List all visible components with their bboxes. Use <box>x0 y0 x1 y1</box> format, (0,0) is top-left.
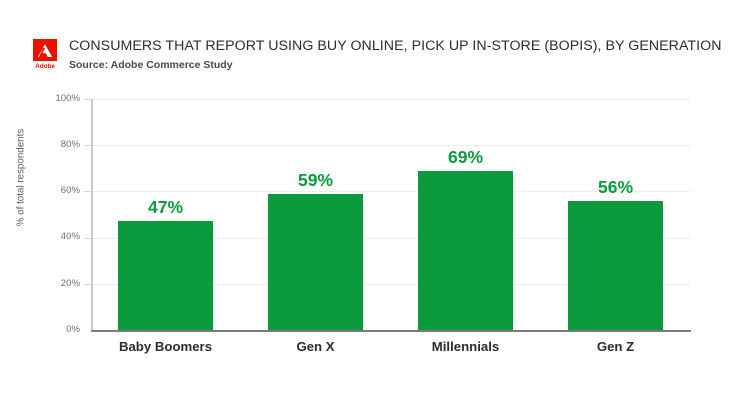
y-tick-label: 40% <box>36 232 80 242</box>
x-axis-label-millennials: Millennials <box>408 339 523 355</box>
bar-value-millennials: 69% <box>418 147 513 167</box>
y-tick-label: 80% <box>36 140 80 150</box>
bar-value-gen-z: 56% <box>568 177 663 197</box>
bar-value-gen-x: 59% <box>268 170 363 190</box>
y-tick-label: 60% <box>36 186 80 196</box>
bar-gen-z[interactable] <box>568 201 663 330</box>
y-axis-labels: 100% 80% 60% 40% 20% 0% <box>32 0 80 413</box>
x-axis-line <box>91 330 691 332</box>
bar-chart: 100% 80% 60% 40% 20% 0% % of total respo… <box>0 0 750 413</box>
x-axis-label-baby-boomers: Baby Boomers <box>108 339 223 355</box>
x-axis-label-gen-z: Gen Z <box>558 339 673 355</box>
bar-gen-x[interactable] <box>268 194 363 330</box>
y-axis-tick <box>84 238 91 239</box>
x-axis-label-gen-x: Gen X <box>258 339 373 355</box>
y-tick-label: 20% <box>36 279 80 289</box>
y-tick-label: 100% <box>36 94 80 104</box>
y-tick-label: 0% <box>36 325 80 335</box>
bar-baby-boomers[interactable] <box>118 221 213 330</box>
y-axis-tick <box>84 191 91 192</box>
bar-value-baby-boomers: 47% <box>118 197 213 217</box>
y-axis-tick <box>84 284 91 285</box>
gridline <box>93 145 690 146</box>
y-axis-title: % of total respondents <box>16 98 27 258</box>
gridline <box>93 99 690 100</box>
bar-millennials[interactable] <box>418 171 513 330</box>
y-axis-tick <box>84 99 91 100</box>
y-axis-tick <box>84 145 91 146</box>
